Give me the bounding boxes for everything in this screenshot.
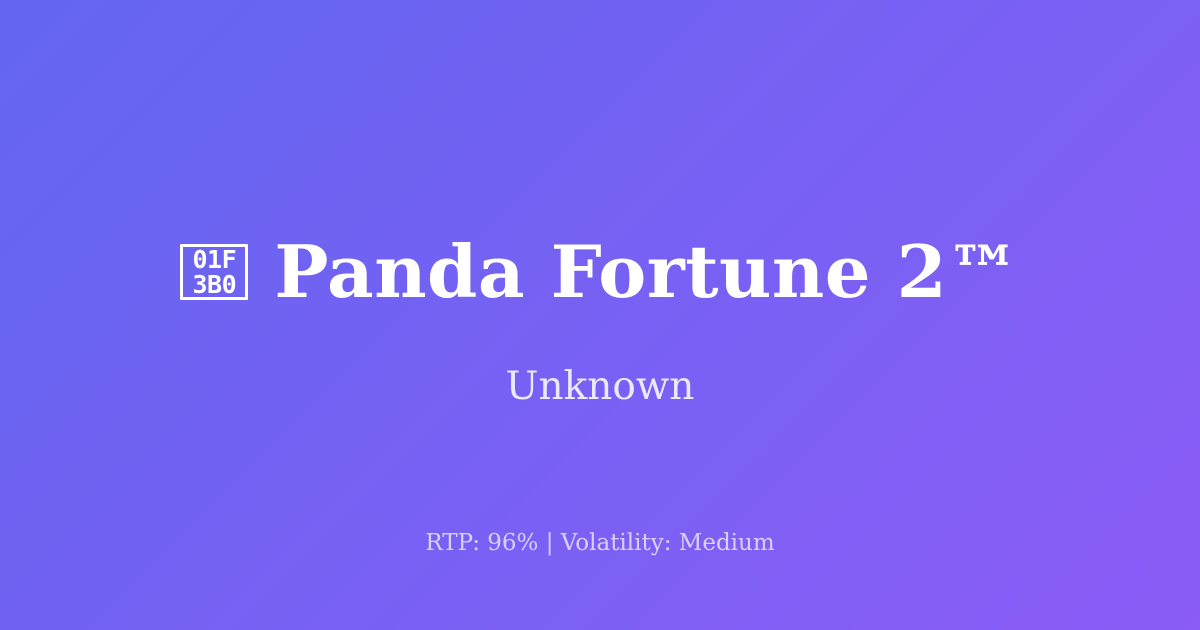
og-share-card: 01F 3B0 Panda Fortune 2™ Unknown RTP: 96…	[0, 0, 1200, 630]
game-stats-line: RTP: 96% | Volatility: Medium	[0, 528, 1200, 558]
tofu-hex-low: 3B0	[193, 272, 237, 297]
title-row: 01F 3B0 Panda Fortune 2™	[0, 232, 1200, 312]
tofu-hex-high: 01F	[193, 247, 237, 272]
slot-machine-icon: 01F 3B0	[180, 244, 248, 300]
page-title: Panda Fortune 2™	[274, 232, 1019, 312]
provider-subtitle: Unknown	[0, 363, 1200, 411]
